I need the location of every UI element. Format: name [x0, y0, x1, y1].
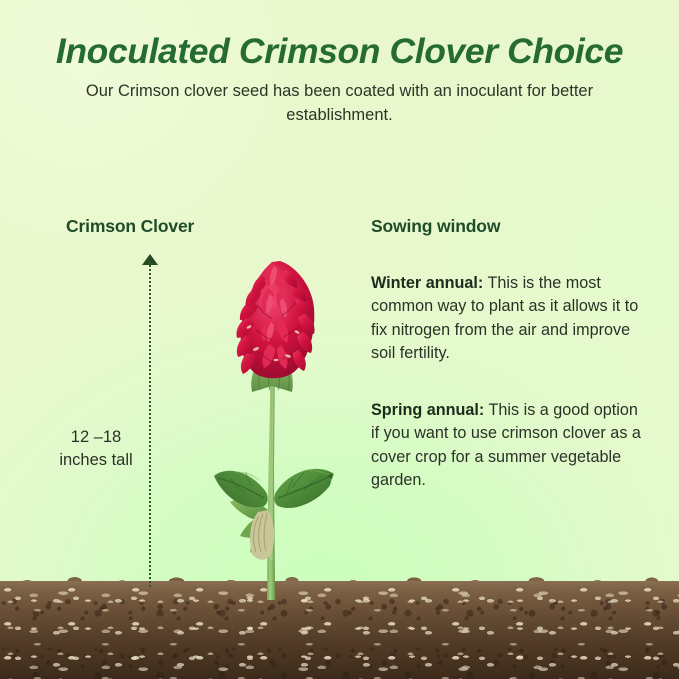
right-column-heading: Sowing window: [371, 216, 500, 237]
sowing-window-item-spring: Spring annual: This is a good option if …: [371, 399, 649, 493]
dotted-measure-line-icon: [149, 262, 151, 587]
header: Inoculated Crimson Clover Choice Our Cri…: [0, 32, 679, 127]
left-column-heading: Crimson Clover: [66, 216, 194, 237]
page-title: Inoculated Crimson Clover Choice: [14, 32, 665, 70]
infographic-poster: Inoculated Crimson Clover Choice Our Cri…: [0, 0, 679, 679]
sowing-window-item-winter: Winter annual: This is the most common w…: [371, 272, 649, 366]
height-measure-label: 12 –18 inches tall: [48, 426, 144, 473]
height-measure-value: 12 –18: [48, 426, 144, 449]
winter-annual-term: Winter annual:: [371, 274, 483, 292]
soil-bed: [0, 581, 679, 679]
height-measure-unit: inches tall: [48, 449, 144, 472]
page-subtitle: Our Crimson clover seed has been coated …: [70, 80, 610, 127]
spring-annual-term: Spring annual:: [371, 401, 484, 419]
